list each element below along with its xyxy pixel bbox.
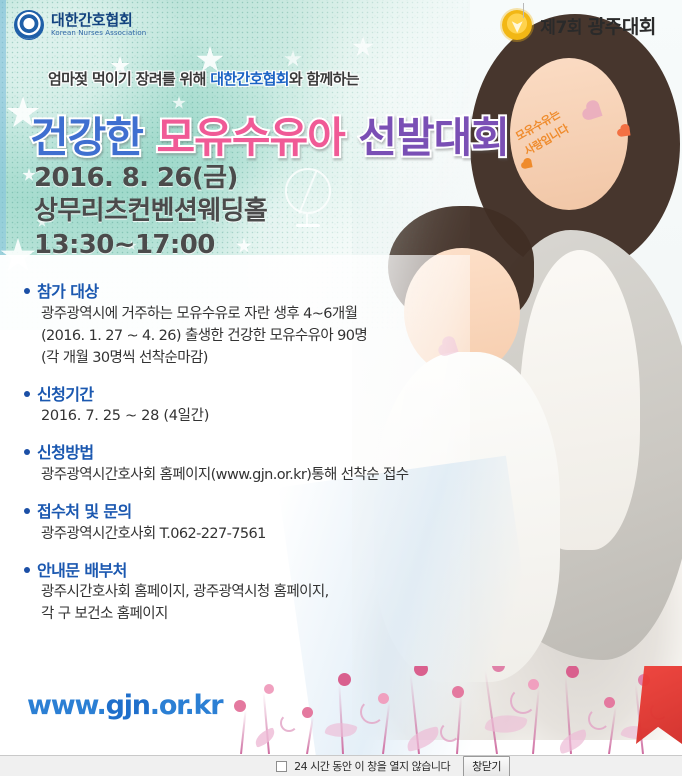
event-badge: 제7회 광주대회 <box>502 10 656 40</box>
event-ordinal: 제7회 <box>540 18 582 38</box>
event-details: 2016. 8. 26(금) 상무리츠컨벤션웨딩홀 13:30~17:00 <box>34 162 267 262</box>
globe-icon <box>285 168 331 214</box>
section-application-period: 신청기간 2016. 7. 25 ~ 28 (4일간) <box>22 384 472 428</box>
popup-bottom-bar: 24 시간 동안 이 창을 열지 않습니다 창닫기 <box>0 755 682 776</box>
dont-show-label: 24 시간 동안 이 창을 열지 않습니다 <box>294 758 450 774</box>
subtitle-highlight: 대한간호협회 <box>210 70 289 88</box>
section-participants: 참가 대상 광주광역시에 거주하는 모유수유로 자란 생후 4~6개월 (201… <box>22 281 472 369</box>
url-domain: gjn <box>106 690 150 721</box>
poster-subtitle: 엄마젖 먹이기 장려를 위해 대한간호협회와 함께하는 <box>48 68 359 89</box>
accent-heart-icon <box>620 127 630 136</box>
url-prefix: www. <box>27 690 106 721</box>
section-heading: 참가 대상 <box>22 281 472 303</box>
section-distribution: 안내문 배부처 광주시간호사회 홈페이지, 광주광역시청 홈페이지, 각 구 보… <box>22 560 472 626</box>
title-part-1: 건강한 <box>30 113 143 162</box>
subtitle-suffix: 와 함께하는 <box>289 70 359 88</box>
section-line: 2016. 7. 25 ~ 28 (4일간) <box>41 405 472 427</box>
website-url[interactable]: www.gjn.or.kr <box>27 690 222 721</box>
section-line: 광주광역시간호사회 T.062-227-7561 <box>41 523 472 545</box>
lion-mascot-icon <box>502 10 532 40</box>
dont-show-checkbox[interactable] <box>276 761 287 772</box>
event-name: 광주대회 <box>588 16 656 38</box>
section-line: 각 구 보건소 홈페이지 <box>41 603 472 625</box>
floral-decoration <box>210 666 682 754</box>
popup-poster: 대한간호협회 Korean Nurses Association 제7회 광주대… <box>0 0 682 776</box>
globe-base-icon <box>296 224 320 227</box>
event-date: 2016. 8. 26(금) <box>34 162 267 195</box>
kna-seal-icon <box>14 10 44 40</box>
section-line: 광주시간호사회 홈페이지, 광주광역시청 홈페이지, <box>41 581 472 603</box>
page-title: 건강한 모유수유아 선발대회 <box>30 104 509 165</box>
title-part-3: 선발대회 <box>358 113 509 162</box>
section-heading: 신청방법 <box>22 442 472 464</box>
section-line: (각 개월 30명씩 선착순마감) <box>41 347 472 369</box>
title-part-2: 모유수유아 <box>157 113 345 162</box>
kna-logo: 대한간호협회 Korean Nurses Association <box>14 10 146 40</box>
section-line: 광주광역시에 거주하는 모유수유로 자란 생후 4~6개월 <box>41 303 472 325</box>
event-time: 13:30~17:00 <box>34 229 267 262</box>
close-window-button[interactable]: 창닫기 <box>463 756 510 776</box>
info-sections: 참가 대상 광주광역시에 거주하는 모유수유로 자란 생후 4~6개월 (201… <box>22 281 472 636</box>
kna-korean-name: 대한간호협회 <box>51 13 146 28</box>
section-contact: 접수처 및 문의 광주광역시간호사회 T.062-227-7561 <box>22 501 472 545</box>
bottom-bar-divider <box>523 3 524 18</box>
section-line: 광주광역시간호사회 홈페이지(www.gjn.or.kr)통해 선착순 접수 <box>41 464 472 486</box>
subtitle-prefix: 엄마젖 먹이기 장려를 위해 <box>48 70 210 88</box>
section-heading: 접수처 및 문의 <box>22 501 472 523</box>
section-line: (2016. 1. 27 ~ 4. 26) 출생한 건강한 모유수유아 90명 <box>41 325 472 347</box>
kna-english-name: Korean Nurses Association <box>51 30 146 37</box>
section-application-method: 신청방법 광주광역시간호사회 홈페이지(www.gjn.or.kr)통해 선착순… <box>22 442 472 486</box>
event-venue: 상무리츠컨벤션웨딩홀 <box>34 195 267 228</box>
section-heading: 안내문 배부처 <box>22 560 472 582</box>
section-heading: 신청기간 <box>22 384 472 406</box>
